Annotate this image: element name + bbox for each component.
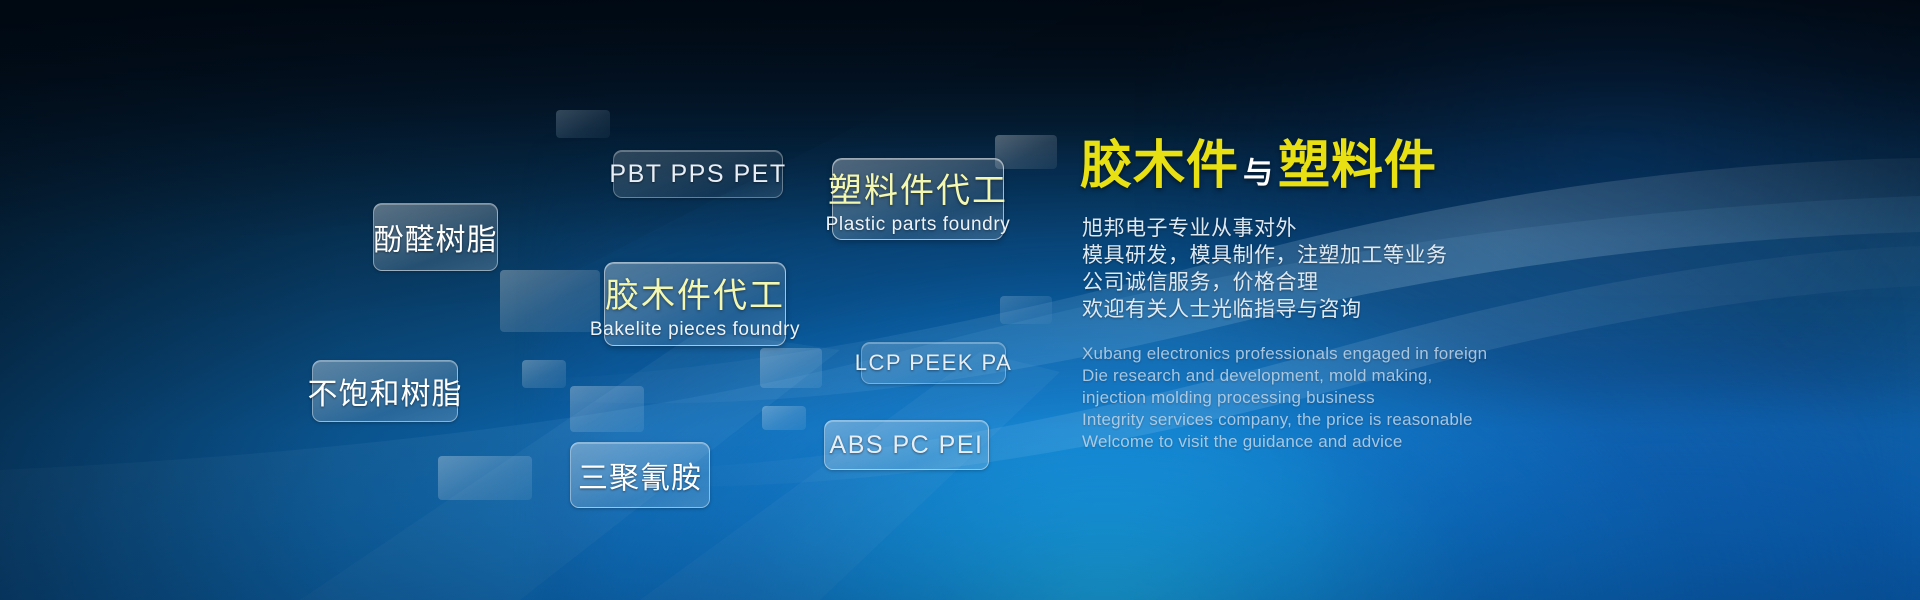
decorative-square	[570, 386, 644, 432]
decorative-square	[438, 456, 532, 500]
promo-banner: 酚醛树脂 不饱和树脂 三聚氰胺 PBT PPS PET LCP PEEK PA …	[0, 0, 1920, 600]
material-tag-phenolic[interactable]: 酚醛树脂	[373, 203, 498, 271]
description-en-line: Welcome to visit the guidance and advice	[1082, 431, 1487, 453]
headline-part2: 塑料件	[1278, 137, 1437, 195]
decorative-square	[760, 348, 822, 388]
description-en-line: Xubang electronics professionals engaged…	[1082, 343, 1487, 365]
decorative-square	[762, 406, 806, 430]
card-title-en: Bakelite pieces foundry	[590, 319, 800, 341]
description-english: Xubang electronics professionals engaged…	[1082, 343, 1487, 453]
material-tag-melamine[interactable]: 三聚氰胺	[570, 442, 710, 508]
card-title-en: Plastic parts foundry	[826, 214, 1011, 236]
decorative-square	[500, 270, 600, 332]
description-en-line: Integrity services company, the price is…	[1082, 409, 1487, 431]
description-chinese: 旭邦电子专业从事对外 模具研发，模具制作，注塑加工等业务 公司诚信服务，价格合理…	[1082, 215, 1448, 323]
decorative-square	[556, 110, 610, 138]
card-title-cn: 塑料件代工	[828, 163, 1008, 212]
decorative-square	[522, 360, 566, 388]
card-plastic-foundry[interactable]: 塑料件代工 Plastic parts foundry	[832, 158, 1004, 240]
material-tag-label: 三聚氰胺	[578, 453, 702, 497]
material-tag-label: 不饱和树脂	[308, 369, 463, 413]
description-cn-line: 欢迎有关人士光临指导与咨询	[1082, 296, 1448, 323]
headline-part1: 胶木件	[1080, 137, 1239, 195]
description-cn-line: 旭邦电子专业从事对外	[1082, 215, 1448, 242]
material-tag-abs-pc-pei[interactable]: ABS PC PEI	[824, 420, 989, 470]
description-en-line: Die research and development, mold makin…	[1082, 365, 1487, 387]
material-tag-label: PBT PPS PET	[609, 160, 786, 189]
card-bakelite-foundry[interactable]: 胶木件代工 Bakelite pieces foundry	[604, 262, 786, 346]
card-title-cn: 胶木件代工	[605, 268, 785, 317]
material-tag-lcp-peek-pa[interactable]: LCP PEEK PA	[861, 342, 1006, 384]
material-tag-label: LCP PEEK PA	[855, 350, 1013, 376]
material-tag-label: ABS PC PEI	[830, 431, 984, 460]
headline-connector: 与	[1239, 157, 1278, 190]
page-title: 胶木件与塑料件	[1080, 140, 1437, 192]
material-tag-pbt-pps-pet[interactable]: PBT PPS PET	[613, 150, 783, 198]
description-en-line: injection molding processing business	[1082, 387, 1487, 409]
decorative-square	[1000, 296, 1052, 324]
description-cn-line: 公司诚信服务，价格合理	[1082, 269, 1448, 296]
material-tag-label: 酚醛树脂	[374, 215, 498, 259]
description-cn-line: 模具研发，模具制作，注塑加工等业务	[1082, 242, 1448, 269]
material-tag-unsaturated[interactable]: 不饱和树脂	[312, 360, 458, 422]
